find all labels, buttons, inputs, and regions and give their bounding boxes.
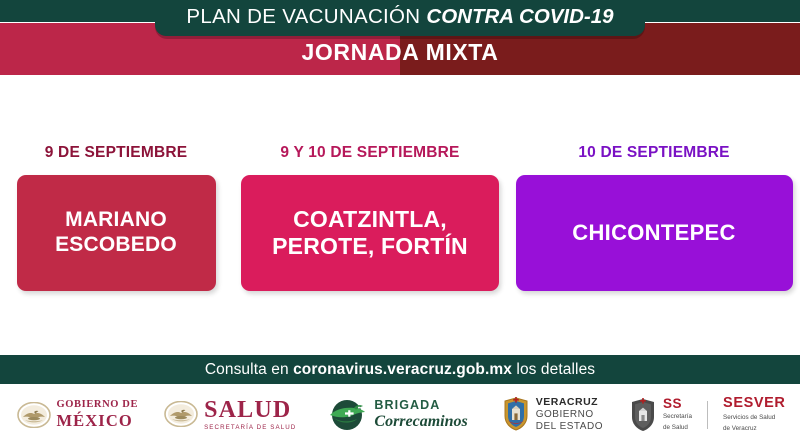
page-subtitle-wrap: JORNADA MIXTA: [0, 23, 800, 75]
logo-sesver-line2: Servicios de Salud: [723, 414, 785, 422]
logo-ss-line2: Secretaría: [663, 413, 692, 421]
schedule-column-2: 9 Y 10 DE SEPTIEMBRE COATZINTLA, PEROTE,…: [232, 76, 508, 291]
mexican-eagle-icon: [17, 402, 51, 428]
footer-text-after: los detalles: [512, 361, 595, 378]
logo-gobmx-line2: MÉXICO: [57, 413, 139, 430]
schedule-date-3: 10 DE SEPTIEMBRE: [578, 144, 729, 162]
logo-gobierno-mexico: GOBIERNO DE MÉXICO: [17, 400, 139, 429]
mexican-eagle-icon: [164, 401, 198, 427]
logo-salud-line2: SECRETARÍA DE SALUD: [204, 425, 296, 431]
page-header: PLAN DE VACUNACIÓN CONTRA COVID-19 JORNA…: [0, 0, 800, 76]
footer-info-bar: Consulta en coronavirus.veracruz.gob.mx …: [0, 355, 800, 384]
logo-sesver-line3: de Veracruz: [723, 425, 785, 433]
schedule-card-2[interactable]: COATZINTLA, PEROTE, FORTÍN: [241, 175, 499, 291]
schedule-date-2: 9 Y 10 DE SEPTIEMBRE: [280, 144, 459, 162]
logo-veracruz-line2: GOBIERNO: [536, 409, 603, 421]
logo-sesver-line1: SESVER: [723, 396, 785, 411]
page-subtitle: JORNADA MIXTA: [302, 33, 499, 66]
logo-salud: SALUD SECRETARÍA DE SALUD: [164, 398, 296, 431]
schedule-locations-3: CHICONTEPEC: [572, 220, 735, 246]
schedule-locations-2: COATZINTLA, PEROTE, FORTÍN: [251, 206, 489, 260]
roadrunner-bird-icon: [326, 398, 368, 432]
logo-veracruz-text: VERACRUZ GOBIERNO DEL ESTADO: [536, 396, 603, 433]
logo-brigada-correcaminos: BRIGADA Correcaminos: [326, 398, 467, 432]
schedule-card-1[interactable]: MARIANO ESCOBEDO: [17, 175, 216, 291]
footer-logos: GOBIERNO DE MÉXICO SALUD SECRETARÍA DE S…: [0, 384, 800, 445]
sesver-coat-of-arms-icon: [629, 398, 657, 432]
schedule-locations-1: MARIANO ESCOBEDO: [27, 208, 206, 258]
schedule-section: 9 DE SEPTIEMBRE MARIANO ESCOBEDO 9 Y 10 …: [0, 76, 800, 355]
logo-ss-line3: de Salud: [663, 424, 692, 432]
logo-veracruz-line1: VERACRUZ: [536, 396, 603, 409]
logo-gobierno-mexico-text: GOBIERNO DE MÉXICO: [57, 400, 139, 429]
schedule-column-3: 10 DE SEPTIEMBRE CHICONTEPEC: [508, 76, 800, 291]
schedule-columns: 9 DE SEPTIEMBRE MARIANO ESCOBEDO 9 Y 10 …: [0, 76, 800, 291]
logo-ss-sesver: SS Secretaría de Salud SESVER Servicios …: [629, 396, 786, 433]
footer-info-text: Consulta en coronavirus.veracruz.gob.mx …: [205, 361, 595, 379]
footer-url[interactable]: coronavirus.veracruz.gob.mx: [293, 361, 512, 378]
logo-veracruz-gobierno: VERACRUZ GOBIERNO DEL ESTADO: [502, 396, 603, 433]
schedule-date-1: 9 DE SEPTIEMBRE: [45, 144, 188, 162]
veracruz-coat-of-arms-icon: [502, 397, 530, 431]
logo-brigada-text: BRIGADA Correcaminos: [374, 399, 467, 430]
logo-brigada-line2: Correcaminos: [374, 414, 467, 430]
logo-brigada-line1: BRIGADA: [374, 399, 467, 412]
logo-sesver-text: SESVER Servicios de Salud de Veracruz: [723, 396, 785, 433]
footer-text-before: Consulta en: [205, 361, 293, 378]
logo-divider: [707, 401, 708, 429]
logo-gobmx-line1: GOBIERNO DE: [57, 400, 139, 411]
schedule-column-1: 9 DE SEPTIEMBRE MARIANO ESCOBEDO: [0, 76, 232, 291]
logo-salud-line1: SALUD: [204, 398, 296, 422]
schedule-card-3[interactable]: CHICONTEPEC: [516, 175, 793, 291]
logo-veracruz-line3: DEL ESTADO: [536, 421, 603, 433]
logo-ss-line1: SS: [663, 397, 692, 411]
logo-salud-text: SALUD SECRETARÍA DE SALUD: [204, 398, 296, 431]
logo-ss-text: SS Secretaría de Salud: [663, 397, 692, 433]
